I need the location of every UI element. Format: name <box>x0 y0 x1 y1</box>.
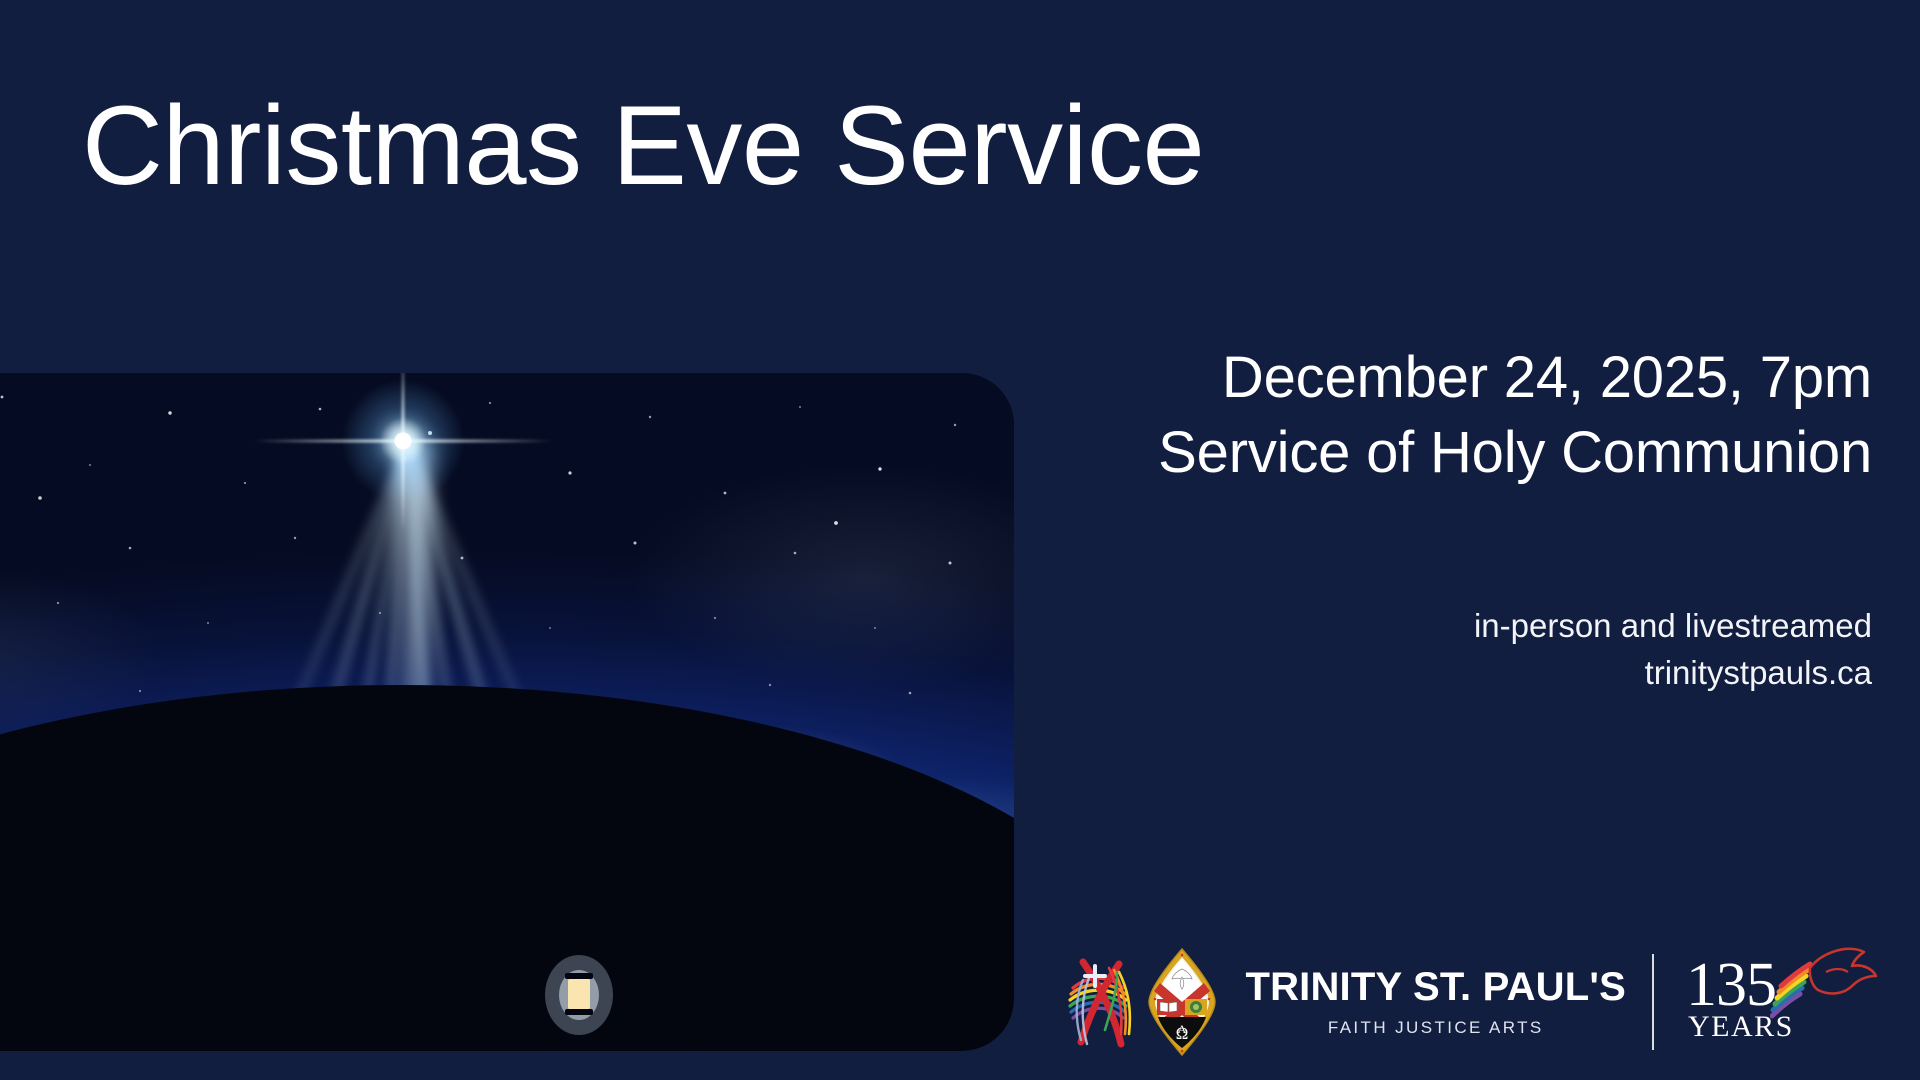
nativity-silhouettes <box>0 373 1014 1051</box>
united-church-crest-icon: Ω A <box>1145 947 1219 1057</box>
event-details: December 24, 2025, 7pm Service of Holy C… <box>1012 340 1872 697</box>
attendance-note: in-person and livestreamed <box>1012 603 1872 650</box>
wordmark-title: TRINITY ST. PAUL'S <box>1245 967 1626 1007</box>
lantern-icon <box>545 955 613 1035</box>
wordmark-tagline: FAITH JUSTICE ARTS <box>1245 1018 1626 1038</box>
logo-lockup: Ω A TRINITY ST. PAUL'S FAITH JUSTICE ART… <box>1059 942 1880 1062</box>
anniversary-mark: 135 YEARS <box>1680 948 1880 1056</box>
anniversary-number: 135 <box>1686 954 1776 1016</box>
website-link[interactable]: trinitystpauls.ca <box>1012 650 1872 697</box>
trinity-wordmark: TRINITY ST. PAUL'S FAITH JUSTICE ARTS <box>1245 967 1626 1038</box>
poster-canvas: Christmas Eve Service <box>0 0 1920 1080</box>
logo-divider <box>1652 954 1654 1050</box>
stable-icon <box>420 720 902 1051</box>
event-service-type: Service of Holy Communion <box>1012 415 1872 490</box>
affirming-ministry-icon <box>1059 948 1137 1056</box>
dove-rainbow-icon <box>1770 942 1880 1034</box>
svg-text:A: A <box>1178 1022 1187 1036</box>
event-datetime: December 24, 2025, 7pm <box>1012 340 1872 415</box>
nativity-image <box>0 373 1014 1051</box>
page-title: Christmas Eve Service <box>82 86 1204 207</box>
